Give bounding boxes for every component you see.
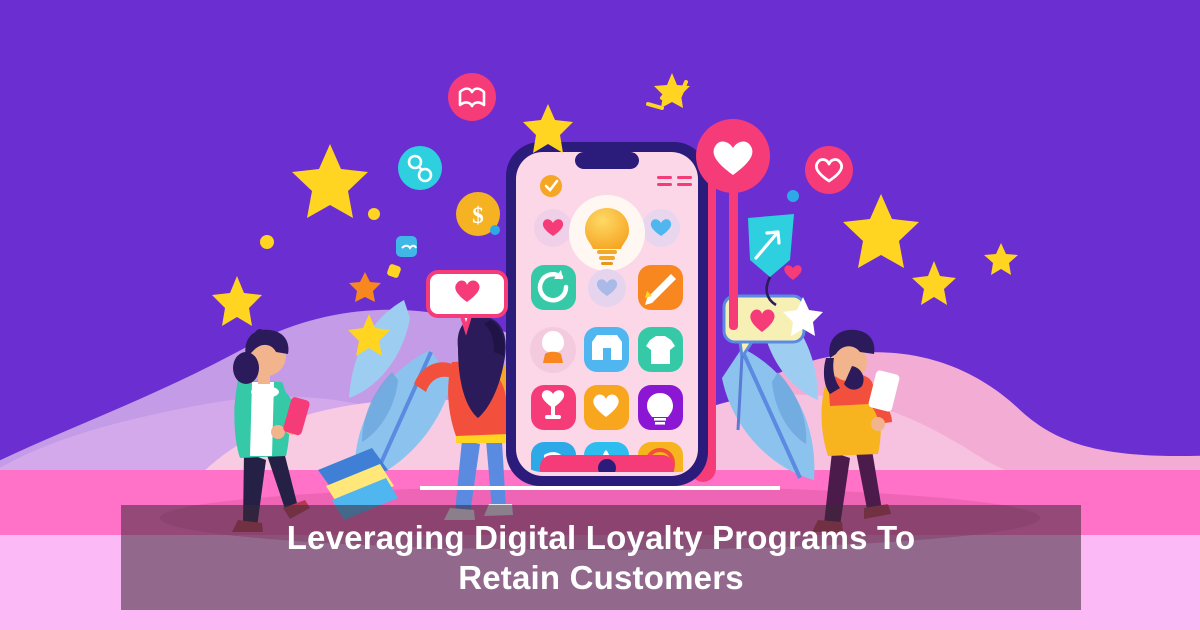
medal-icon xyxy=(542,331,564,363)
book-heart-badge-icon xyxy=(448,73,496,121)
hero-banner: $ xyxy=(0,0,1200,630)
smartphone-illustration xyxy=(506,142,716,488)
svg-text:$: $ xyxy=(472,203,484,228)
divider-rule xyxy=(420,486,780,490)
phone-notch xyxy=(575,152,639,169)
cyan-dot-icon xyxy=(490,225,500,235)
title-overlay: Leveraging Digital Loyalty Programs To R… xyxy=(121,505,1081,610)
store-icon xyxy=(592,335,622,360)
heart-outline-badge-icon xyxy=(805,146,853,194)
cyan-dot-icon-2 xyxy=(787,190,799,202)
page-title-line-1: Leveraging Digital Loyalty Programs To xyxy=(287,518,916,558)
check-badge-icon xyxy=(540,175,562,197)
page-title-line-2: Retain Customers xyxy=(458,558,744,598)
